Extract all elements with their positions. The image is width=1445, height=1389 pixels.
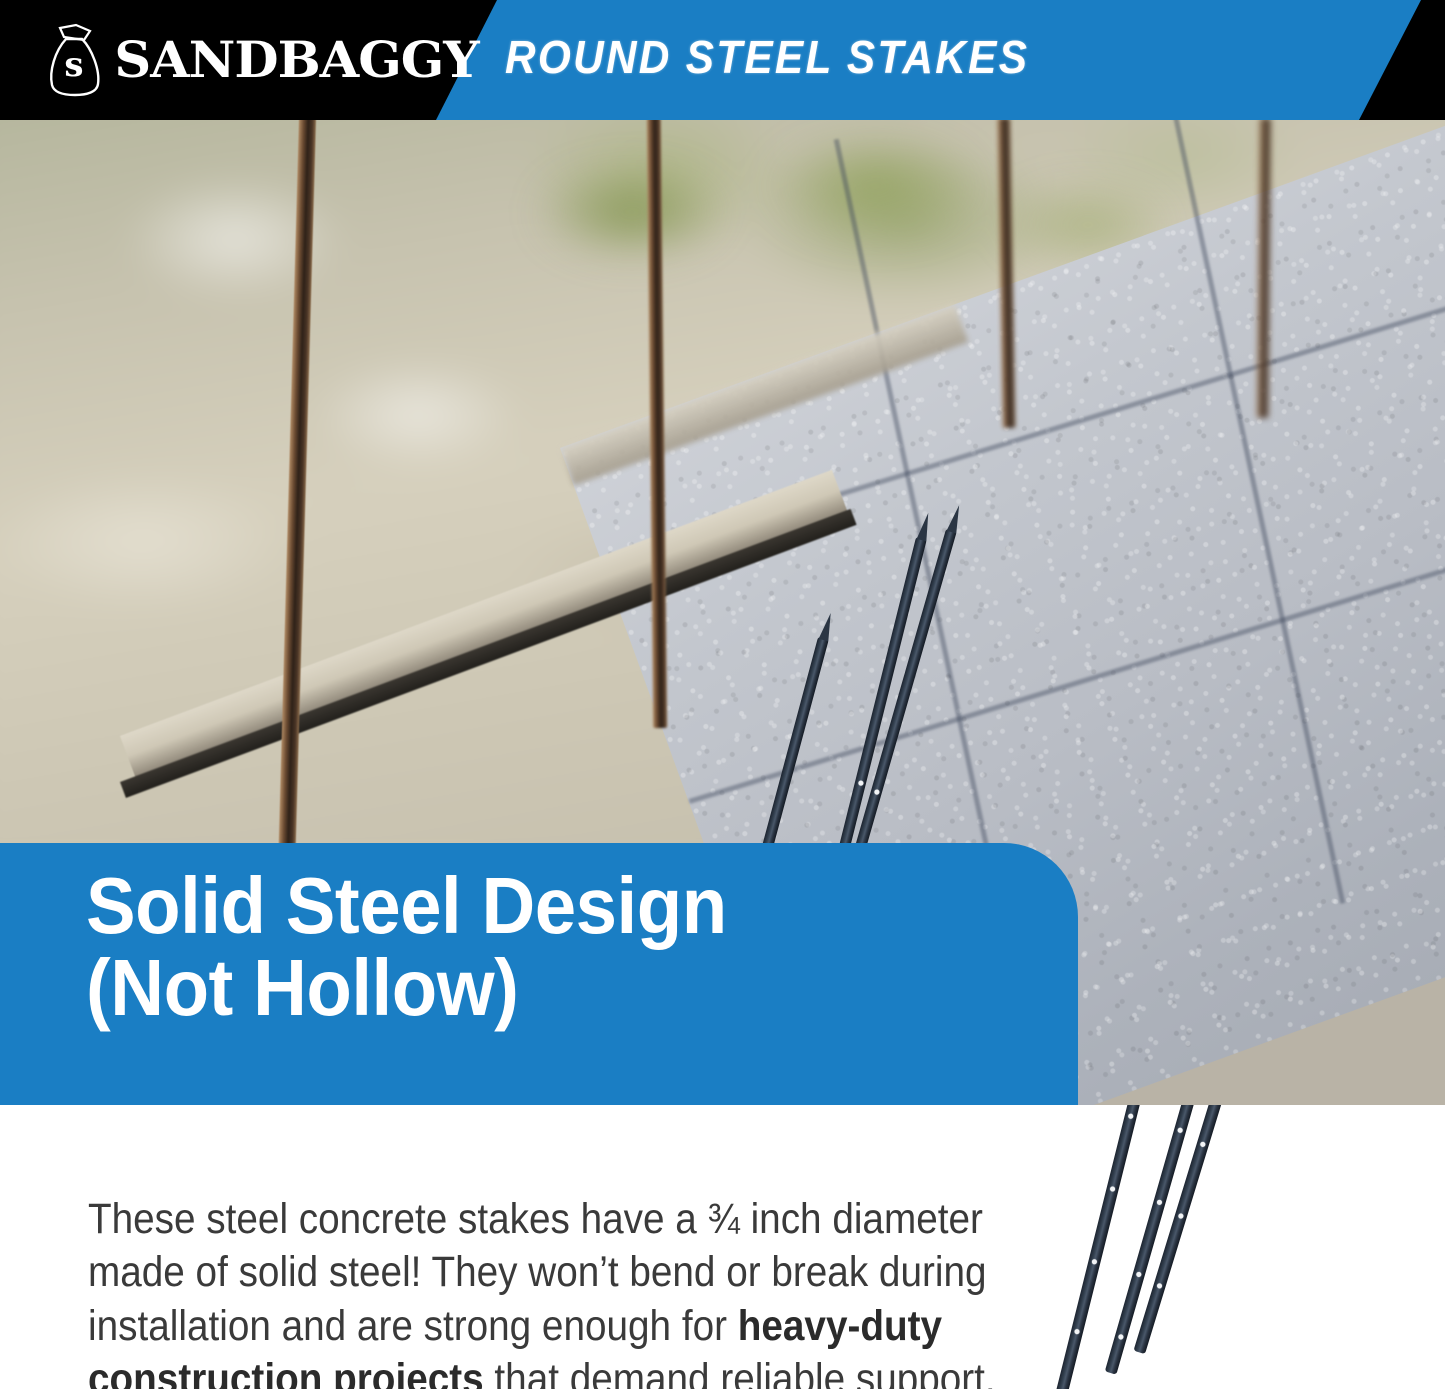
brand-logo: s sandbaggy (46, 22, 475, 98)
header-bar: s sandbaggy ROUND STEEL STAKES (0, 0, 1445, 120)
product-feature-graphic: s sandbaggy ROUND STEEL STAKES (0, 0, 1445, 1389)
brand-name: sandbaggy (114, 35, 478, 85)
brand-name-initial: s (114, 30, 150, 89)
stake-hole (873, 789, 879, 795)
page-title: ROUND STEEL STAKES (505, 30, 1029, 84)
description-segment-2: that demand reliable support. (484, 1355, 996, 1389)
headline-banner: Solid Steel Design (Not Hollow) (0, 843, 1078, 1105)
stake-hole (857, 780, 863, 786)
svg-text:s: s (64, 45, 83, 85)
headline-line-1: Solid Steel Design (86, 865, 979, 947)
headline-text: Solid Steel Design (Not Hollow) (86, 865, 979, 1030)
brand-name-rest: andbaggy (150, 30, 478, 89)
description-text: These steel concrete stakes have a ¾ inc… (88, 1193, 1006, 1389)
sandbag-icon: s (46, 23, 106, 97)
description-area: These steel concrete stakes have a ¾ inc… (0, 1105, 1445, 1389)
headline-line-2: (Not Hollow) (86, 947, 979, 1029)
